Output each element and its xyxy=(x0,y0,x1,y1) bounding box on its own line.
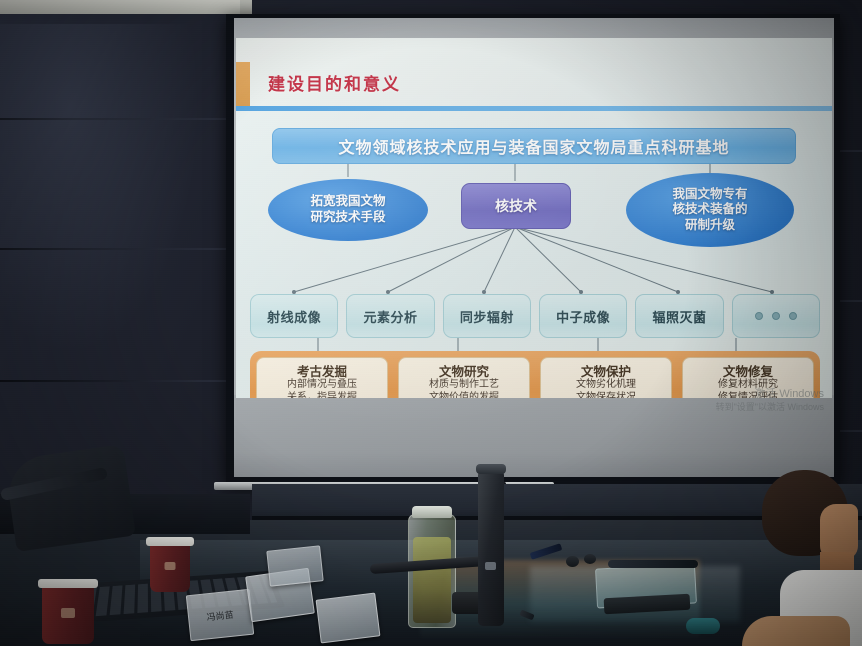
application-line: 材质与制作工艺 xyxy=(429,379,499,392)
tech-label: 同步辐射 xyxy=(460,307,514,326)
goal-node-left: 拓宽我国文物 研究技术手段 xyxy=(268,179,428,241)
watermark-line1: 激活 Windows xyxy=(716,388,824,402)
application-line: 内部情况与叠压 xyxy=(287,379,357,392)
application-card: 考古发掘 内部情况与叠压 关系，指导发掘 xyxy=(256,357,388,398)
slide-main-banner: 文物领域核技术应用与装备国家文物局重点科研基地 xyxy=(272,128,796,164)
cable xyxy=(608,560,698,568)
watermark-line2: 转到"设置"以激活 Windows xyxy=(716,402,824,413)
seated-attendee xyxy=(742,470,862,646)
attendee-arm xyxy=(742,616,850,646)
goal-right-line3: 研制升级 xyxy=(672,218,747,234)
technology-row: 射线成像 元素分析 同步辐射 中子成像 辐照灭菌 xyxy=(250,294,820,338)
tech-label: 中子成像 xyxy=(556,307,610,326)
center-node-label: 核技术 xyxy=(495,196,537,216)
conference-room-photo: 建设目的和意义 xyxy=(0,0,862,646)
slide-section-title: 建设目的和意义 xyxy=(268,70,401,95)
small-round-object xyxy=(566,556,579,567)
title-accent-bar xyxy=(236,62,250,106)
paper-cup-center xyxy=(150,544,190,592)
application-heading: 文物保护 xyxy=(581,365,631,379)
tech-box: 射线成像 xyxy=(250,294,338,338)
slide-content-area: 文物领域核技术应用与装备国家文物局重点科研基地 拓宽我国文物 研究技术手段 核技… xyxy=(236,111,832,398)
nameplate xyxy=(266,545,323,586)
application-line: 关系，指导发掘 xyxy=(287,392,357,398)
tech-box: 同步辐射 xyxy=(443,294,531,338)
goal-node-right: 我国文物专有 核技术装备的 研制升级 xyxy=(626,173,794,247)
application-line: 文物价值的发掘 xyxy=(429,392,499,398)
tech-label: 射线成像 xyxy=(267,307,321,326)
goal-left-line1: 拓宽我国文物 xyxy=(310,194,385,210)
center-node-nuclear-tech: 核技术 xyxy=(461,183,571,229)
glass-tea-bottle xyxy=(408,514,456,628)
windows-activation-watermark: 激活 Windows 转到"设置"以激活 Windows xyxy=(716,388,824,413)
tech-box: 辐照灭菌 xyxy=(635,294,723,338)
application-line: 文物劣化机理 xyxy=(576,379,636,392)
tech-box: 中子成像 xyxy=(539,294,627,338)
projector-screen: 建设目的和意义 xyxy=(234,18,834,477)
tech-box: 元素分析 xyxy=(346,294,434,338)
small-round-object xyxy=(584,554,596,564)
ellipsis-dots-icon xyxy=(755,312,797,320)
nameplate-text: 冯尚苗 xyxy=(206,607,234,623)
application-heading: 文物研究 xyxy=(439,365,489,379)
conference-microphone[interactable] xyxy=(478,470,504,626)
presentation-slide: 建设目的和意义 xyxy=(236,38,832,398)
application-card: 文物保护 文物劣化机理 文物保存状况 xyxy=(540,357,672,398)
nameplate: 冯尚苗 xyxy=(186,589,254,641)
goal-right-line2: 核技术装备的 xyxy=(672,202,747,218)
tech-box-ellipsis xyxy=(732,294,820,338)
goal-left-line2: 研究技术手段 xyxy=(310,210,385,226)
nameplate xyxy=(316,593,381,644)
banner-text: 文物领域核技术应用与装备国家文物局重点科研基地 xyxy=(338,134,729,158)
application-card: 文物研究 材质与制作工艺 文物价值的发掘 xyxy=(398,357,530,398)
tech-label: 辐照灭菌 xyxy=(652,307,706,326)
tech-label: 元素分析 xyxy=(363,307,417,326)
paper-cup-left xyxy=(42,586,94,644)
application-heading: 考古发掘 xyxy=(297,365,347,379)
application-heading: 文物修复 xyxy=(723,365,773,379)
teal-object xyxy=(686,618,720,634)
goal-right-line1: 我国文物专有 xyxy=(672,187,747,203)
application-line: 文物保存状况 xyxy=(576,392,636,398)
